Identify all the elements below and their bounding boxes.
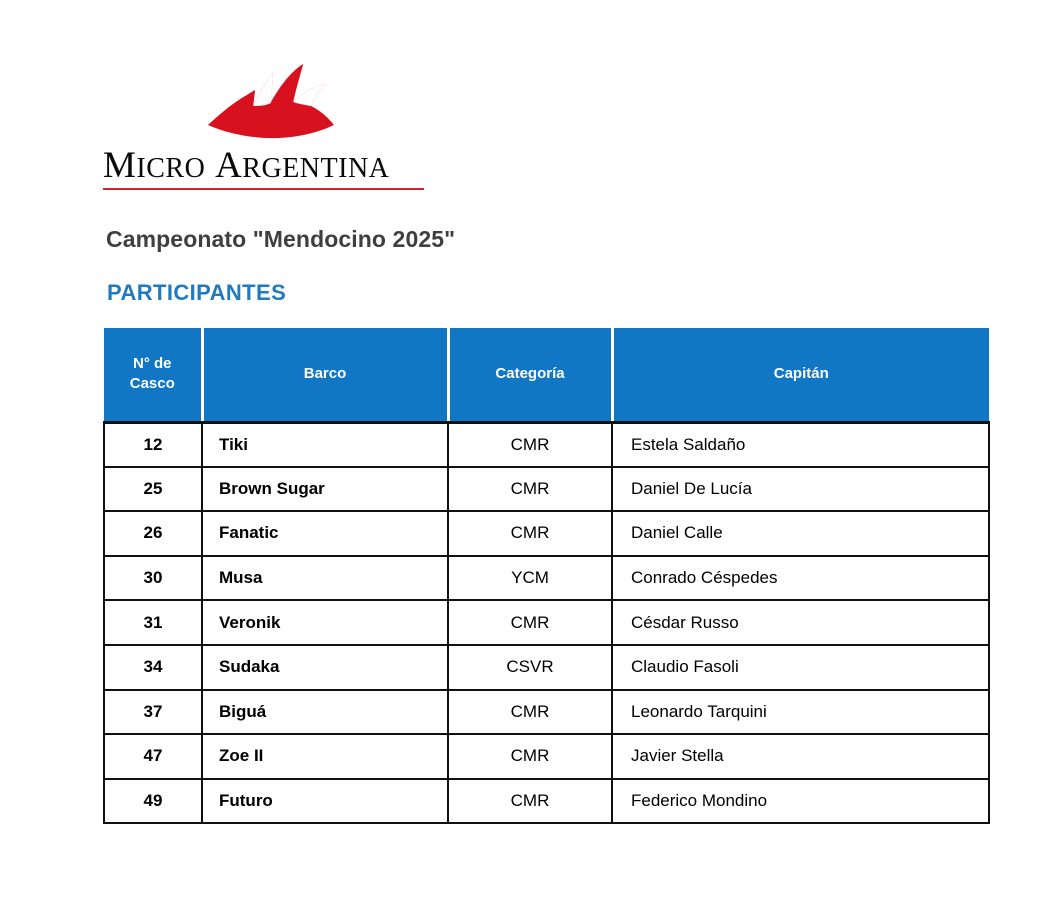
cell-casco: 49 [104,779,202,824]
cell-categoria: YCM [448,556,612,601]
cell-categoria: CMR [448,779,612,824]
table-row: 25Brown SugarCMRDaniel De Lucía [104,467,989,512]
cell-barco: Biguá [202,690,448,735]
table-row: 31VeronikCMRCésdar Russo [104,600,989,645]
cell-capitan: Claudio Fasoli [612,645,989,690]
cell-capitan: Leonardo Tarquini [612,690,989,735]
column-header-barco: Barco [202,328,448,422]
cell-capitan: Javier Stella [612,734,989,779]
cell-barco: Futuro [202,779,448,824]
page-title: Campeonato "Mendocino 2025" [106,226,455,253]
wordmark-argentina-rest: RGENTINA [242,153,389,184]
cell-capitan: Césdar Russo [612,600,989,645]
cell-barco: Veronik [202,600,448,645]
cell-categoria: CMR [448,422,612,467]
table-row: 49FuturoCMRFederico Mondino [104,779,989,824]
cell-barco: Sudaka [202,645,448,690]
table-row: 30MusaYCMConrado Céspedes [104,556,989,601]
section-heading-participantes: PARTICIPANTES [107,280,286,306]
wordmark-micro-initial: M [103,145,136,186]
cell-barco: Zoe II [202,734,448,779]
cell-categoria: CMR [448,467,612,512]
cell-barco: Tiki [202,422,448,467]
cell-casco: 25 [104,467,202,512]
table-row: 26FanaticCMRDaniel Calle [104,511,989,556]
cell-capitan: Estela Saldaño [612,422,989,467]
column-header-casco: N° de Casco [104,328,202,422]
cell-casco: 12 [104,422,202,467]
cell-categoria: CSVR [448,645,612,690]
table-row: 47Zoe IICMRJavier Stella [104,734,989,779]
cell-barco: Fanatic [202,511,448,556]
column-header-capitan: Capitán [612,328,989,422]
cell-capitan: Daniel De Lucía [612,467,989,512]
cell-categoria: CMR [448,511,612,556]
column-header-casco-line1: N° de [133,355,172,372]
cell-capitan: Federico Mondino [612,779,989,824]
wordmark-argentina-initial: A [215,145,242,186]
table-body: 12TikiCMREstela Saldaño25Brown SugarCMRD… [104,422,989,823]
cell-barco: Brown Sugar [202,467,448,512]
table-row: 12TikiCMREstela Saldaño [104,422,989,467]
table-header: N° de Casco Barco Categoría Capitán [104,328,989,422]
brand-logo: MICRO ARGENTINA [103,62,433,197]
brand-wordmark: MICRO ARGENTINA [103,146,433,186]
cell-casco: 31 [104,600,202,645]
cell-casco: 37 [104,690,202,735]
cell-capitan: Conrado Céspedes [612,556,989,601]
cell-categoria: CMR [448,734,612,779]
cell-casco: 34 [104,645,202,690]
cell-casco: 26 [104,511,202,556]
cell-casco: 47 [104,734,202,779]
column-header-casco-line2: Casco [130,375,175,392]
table-row: 34SudakaCSVRClaudio Fasoli [104,645,989,690]
cell-capitan: Daniel Calle [612,511,989,556]
wordmark-micro-rest: ICRO [136,153,205,184]
column-header-categoria: Categoría [448,328,612,422]
cell-barco: Musa [202,556,448,601]
participants-table-container: N° de Casco Barco Categoría Capitán 12Ti… [103,328,988,824]
table-header-row: N° de Casco Barco Categoría Capitán [104,328,989,422]
brand-underline-rule [103,188,424,190]
micro-argentina-flame-mark-icon [207,62,337,144]
cell-categoria: CMR [448,600,612,645]
cell-categoria: CMR [448,690,612,735]
document-page: MICRO ARGENTINA Campeonato "Mendocino 20… [0,0,1044,919]
table-row: 37BiguáCMRLeonardo Tarquini [104,690,989,735]
cell-casco: 30 [104,556,202,601]
participants-table: N° de Casco Barco Categoría Capitán 12Ti… [103,328,990,824]
